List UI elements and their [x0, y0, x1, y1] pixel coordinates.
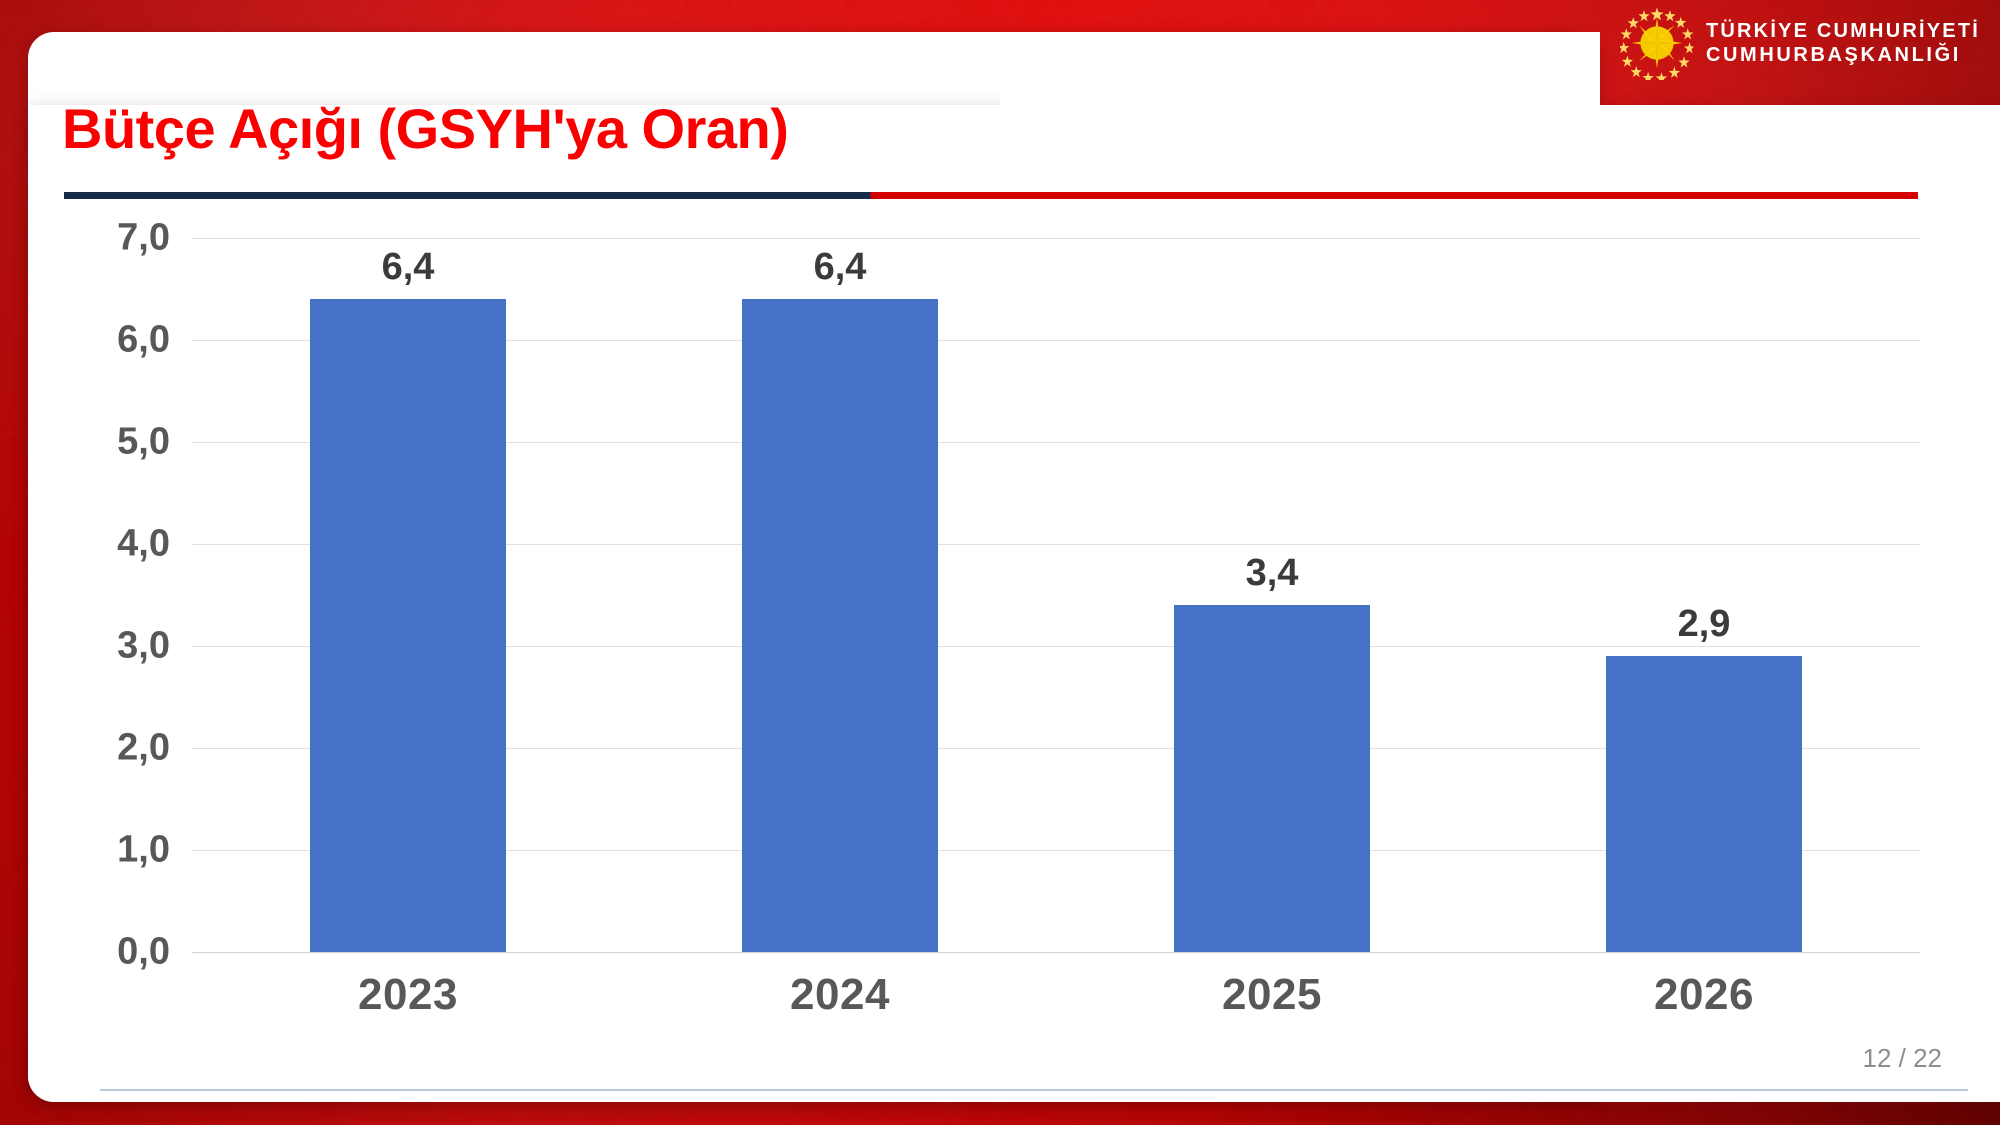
chart-y-tick-label: 0,0: [117, 931, 170, 974]
presidency-logo: TÜRKİYE CUMHURİYETİ CUMHURBAŞKANLIĞI: [1620, 6, 1980, 80]
logo-line-2: CUMHURBAŞKANLIĞI: [1706, 43, 1980, 67]
page-number: 12 / 22: [1862, 1043, 1942, 1074]
logo-text: TÜRKİYE CUMHURİYETİ CUMHURBAŞKANLIĞI: [1706, 19, 1980, 68]
chart-y-tick-label: 7,0: [117, 217, 170, 260]
chart-bar[interactable]: [310, 299, 506, 952]
chart-bar-value-label: 3,4: [1246, 552, 1299, 595]
chart-y-tick-label: 6,0: [117, 319, 170, 362]
chart-y-tick-label: 5,0: [117, 421, 170, 464]
chart-y-tick-label: 3,0: [117, 625, 170, 668]
chart-plot-area: 7,06,05,04,03,02,01,00,0 6,46,43,42,9: [192, 238, 1920, 952]
chart-x-axis-labels: 2023202420252026: [192, 970, 1920, 1020]
footer-divider: [100, 1089, 1968, 1091]
page-title: Bütçe Açığı (GSYH'ya Oran): [62, 96, 788, 161]
slide-card-join: [1000, 32, 1600, 152]
chart-x-label: 2023: [192, 970, 624, 1020]
title-underline: [64, 192, 1918, 199]
chart-bar-value-label: 6,4: [382, 246, 435, 289]
chart-bar-value-label: 6,4: [814, 246, 867, 289]
chart-bar-slot: 6,4: [192, 238, 624, 952]
chart-x-label: 2025: [1056, 970, 1488, 1020]
presentation-slide: TÜRKİYE CUMHURİYETİ CUMHURBAŞKANLIĞI Büt…: [0, 0, 2000, 1125]
chart-y-tick-label: 2,0: [117, 727, 170, 770]
chart-bar-slot: 6,4: [624, 238, 1056, 952]
chart-bar[interactable]: [742, 299, 938, 952]
chart-bar[interactable]: [1606, 656, 1802, 952]
chart-x-label: 2024: [624, 970, 1056, 1020]
chart-x-label: 2026: [1488, 970, 1920, 1020]
chart-bar-value-label: 2,9: [1678, 603, 1731, 646]
chart-bar-slot: 3,4: [1056, 238, 1488, 952]
logo-line-1: TÜRKİYE CUMHURİYETİ: [1706, 19, 1980, 43]
sun-star-icon: [1620, 6, 1694, 80]
chart-y-tick-label: 4,0: [117, 523, 170, 566]
chart-bar[interactable]: [1174, 605, 1370, 952]
chart-bars: 6,46,43,42,9: [192, 238, 1920, 952]
bar-chart: 7,06,05,04,03,02,01,00,0 6,46,43,42,9 20…: [62, 210, 1932, 1010]
chart-gridline: 0,0: [192, 952, 1920, 953]
chart-y-tick-label: 1,0: [117, 829, 170, 872]
chart-bar-slot: 2,9: [1488, 238, 1920, 952]
